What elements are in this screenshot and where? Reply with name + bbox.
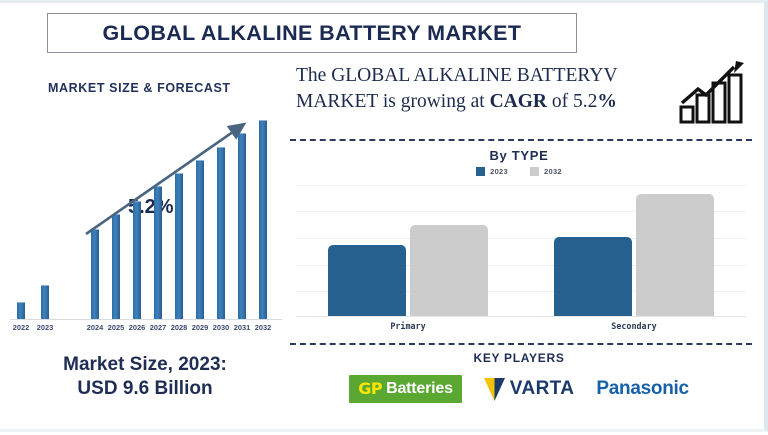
year-axis-labels: 2022202320242025202620272028202920302031…: [10, 323, 282, 337]
market-size-forecast-panel: MARKET SIZE & FORECAST 5.2% 202220232024…: [0, 61, 290, 435]
bytype-chart-title: By TYPE: [288, 148, 750, 163]
market-size-value: Market Size, 2023: USD 9.6 Billion: [0, 353, 290, 402]
legend-item-2032[interactable]: 2032: [530, 167, 562, 176]
bar-primary-2032: [410, 225, 488, 316]
category-label-secondary: Secondary: [584, 321, 684, 331]
infographic-canvas: GLOBAL ALKALINE BATTERY MARKET MARKET SI…: [0, 0, 768, 432]
year-label-2029: 2029: [189, 323, 211, 332]
x-axis-line: [10, 319, 282, 320]
market-size-label: Market Size, 2023:: [0, 353, 290, 377]
bar-2030: [217, 147, 225, 320]
legend-item-2023[interactable]: 2023: [476, 167, 508, 176]
bytype-bar-chart: [296, 183, 746, 317]
statement-line-2-pre: MARKET is growing at: [296, 91, 490, 112]
bar-chart-growth-icon: [678, 59, 750, 125]
bar-primary-2023: [328, 245, 406, 316]
varta-v-icon: [484, 378, 505, 401]
bar-2025: [112, 214, 120, 319]
bar-2026: [133, 201, 141, 319]
bytype-chart-legend: 20232032: [288, 167, 750, 176]
year-label-2026: 2026: [126, 323, 148, 332]
year-label-2023: 2023: [34, 323, 56, 332]
bytype-category-labels: PrimarySecondary: [296, 321, 746, 337]
year-label-2025: 2025: [105, 323, 127, 332]
bar-2023: [41, 285, 49, 319]
varta-wordmark: VARTA: [510, 378, 575, 400]
logo-gp-batteries[interactable]: GP Batteries: [349, 375, 462, 403]
key-players-title: KEY PLAYERS: [288, 351, 750, 365]
bar-secondary-2023: [554, 237, 632, 316]
chart-baseline: [296, 316, 746, 317]
page-title-box: GLOBAL ALKALINE BATTERY MARKET: [47, 13, 577, 53]
statement-line-2-mid: of 5.2: [547, 91, 597, 112]
logo-panasonic[interactable]: Panasonic: [596, 378, 688, 400]
gridline: [296, 185, 746, 186]
legend-label-2032: 2032: [544, 167, 562, 176]
legend-label-2023: 2023: [490, 167, 508, 176]
year-label-2024: 2024: [84, 323, 106, 332]
gp-mark: GP: [358, 379, 382, 398]
statement-percent-bold: %: [597, 91, 617, 112]
section-label-market-size-forecast: MARKET SIZE & FORECAST: [48, 81, 231, 95]
gp-wordmark: Batteries: [386, 380, 453, 398]
year-label-2032: 2032: [252, 323, 274, 332]
year-label-2030: 2030: [210, 323, 232, 332]
bar-2027: [154, 186, 162, 319]
legend-swatch-2023: [476, 167, 485, 176]
logo-varta[interactable]: VARTA: [484, 378, 575, 401]
year-label-2031: 2031: [231, 323, 253, 332]
bar-secondary-2032: [636, 194, 714, 316]
market-size-bar-chart: [10, 109, 282, 319]
bar-2028: [175, 173, 183, 319]
category-label-primary: Primary: [358, 321, 458, 331]
bar-2029: [196, 160, 204, 319]
year-label-2022: 2022: [10, 323, 32, 332]
bar-2031: [238, 133, 246, 319]
statement-line-1: The GLOBAL ALKALINE BATTERYV: [296, 65, 618, 86]
statement-cagr-bold: CAGR: [490, 91, 547, 112]
key-players-logos: GP Batteries VARTA Panasonic: [288, 369, 750, 409]
bar-2032: [259, 120, 267, 319]
divider-top: [290, 139, 752, 141]
bar-2022: [17, 302, 25, 319]
year-label-2027: 2027: [147, 323, 169, 332]
legend-swatch-2032: [530, 167, 539, 176]
cagr-statement: The GLOBAL ALKALINE BATTERYV MARKET is g…: [296, 63, 676, 115]
divider-bottom: [290, 343, 752, 345]
market-size-amount: USD 9.6 Billion: [0, 377, 290, 401]
page-title: GLOBAL ALKALINE BATTERY MARKET: [103, 21, 522, 46]
bar-2024: [91, 229, 99, 319]
year-label-2028: 2028: [168, 323, 190, 332]
right-panel: The GLOBAL ALKALINE BATTERYV MARKET is g…: [288, 55, 760, 431]
